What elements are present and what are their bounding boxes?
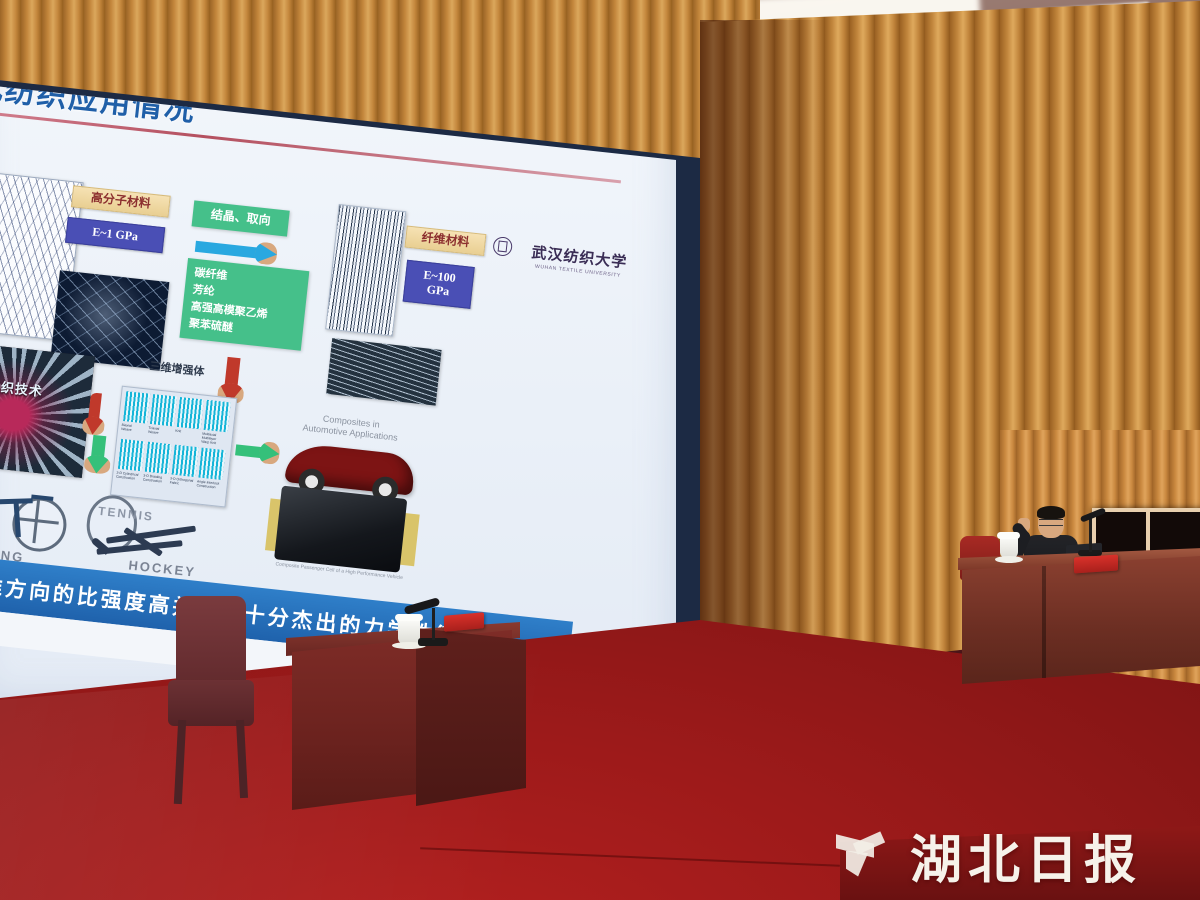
weave-cell xyxy=(145,442,172,474)
weave-cell xyxy=(198,448,225,480)
presentation-slide: 现代纺织应用情况 武汉纺织大学 WUHAN TEXTILE UNIVERSITY… xyxy=(0,47,667,719)
fiber-material-label: 纤维材料 xyxy=(405,225,487,255)
weave-structures-diagram: Biaxial Weave Triaxial Weave Knit Multia… xyxy=(110,386,237,508)
university-seal-icon xyxy=(492,236,513,257)
weave-cell xyxy=(150,394,177,426)
fiber-micrograph xyxy=(325,204,406,337)
teacup-lid xyxy=(997,532,1020,539)
arrow-head xyxy=(83,454,111,475)
front-table-side-panel xyxy=(416,628,526,818)
fiber-type-list-box: 碳纤维 芳纶 高强高模聚乙烯 聚苯硫醚 xyxy=(179,258,309,351)
microphone-neck xyxy=(432,608,435,640)
watermark: 湖北日报 xyxy=(836,818,1142,893)
arrow-shaft xyxy=(225,357,241,386)
weave-cell xyxy=(177,397,204,429)
weave-cell xyxy=(204,400,231,432)
polymer-material-label: 高分子材料 xyxy=(71,185,171,217)
weave-legend-7: 3-D Orthogonal Fabric xyxy=(170,476,196,487)
weave-cell xyxy=(118,439,145,471)
speaker-desk-seam xyxy=(1042,566,1046,678)
fiber-strand-photo xyxy=(326,338,441,406)
projection-screen[interactable]: 现代纺织应用情况 武汉纺织大学 WUHAN TEXTILE UNIVERSITY… xyxy=(0,62,676,702)
arrow-shaft xyxy=(195,241,258,259)
speaker-nameplate[interactable] xyxy=(1074,554,1118,573)
weave-legend-5: 3-D Cylindrical Construction xyxy=(116,471,142,482)
speaker-desk xyxy=(962,556,1200,684)
polymer-modulus-label: E~1 GPa xyxy=(65,217,165,253)
weave-cell xyxy=(123,391,150,423)
composite-passenger-cell-image xyxy=(274,486,407,573)
teacup-lid xyxy=(395,614,423,621)
braiding-tech-label: 三维编织技术 xyxy=(0,372,44,400)
arrow-head xyxy=(258,441,280,465)
speaker-hair xyxy=(1037,506,1065,519)
arrow-shaft xyxy=(88,392,102,419)
preform-label: 三维增强体 xyxy=(133,359,220,382)
teacup-front xyxy=(398,618,420,644)
chair-backrest xyxy=(176,596,246,692)
braiding-machine-photo: 三维编织技术 xyxy=(0,341,95,478)
hubei-daily-bird-icon xyxy=(836,833,898,879)
weave-cell xyxy=(172,445,199,477)
arrow-head xyxy=(81,416,105,436)
lecture-hall-photo: 现代纺织应用情况 武汉纺织大学 WUHAN TEXTILE UNIVERSITY… xyxy=(0,0,1200,900)
weave-legend-4: Multiaxial Multilayer Warp Knit xyxy=(201,432,227,447)
weave-legend-6: 3-D Braiding Construction xyxy=(143,474,169,485)
weave-legend-8: Angle Interlock Construction xyxy=(196,479,222,490)
nameplate-text xyxy=(1074,557,1118,560)
arrow-head xyxy=(254,241,278,265)
chair-leg xyxy=(236,720,248,798)
speaker-glasses-icon xyxy=(1039,519,1063,526)
teacup-saucer xyxy=(995,556,1023,563)
weave-legend-2: Triaxial Weave xyxy=(147,426,173,441)
university-logo: 武汉纺织大学 WUHAN TEXTILE UNIVERSITY xyxy=(513,239,645,281)
arrow-shaft xyxy=(235,444,262,458)
front-armchair xyxy=(168,596,254,806)
automotive-caption: Composites in Automotive Applications xyxy=(280,409,422,446)
green-arrow-right xyxy=(235,438,285,465)
weave-legend-1: Biaxial Weave xyxy=(121,423,147,438)
chair-leg xyxy=(174,720,186,804)
bicycle-image xyxy=(0,477,70,552)
watermark-text: 湖北日报 xyxy=(910,818,1142,893)
curtain-shadow xyxy=(700,20,830,660)
teacup-speaker xyxy=(1000,536,1018,558)
microphone-neck xyxy=(1089,518,1092,552)
weave-legend-3: Knit xyxy=(174,429,200,444)
fiber-modulus-label: E~100 GPa xyxy=(403,260,475,309)
crystallization-label: 结晶、取向 xyxy=(192,200,290,236)
